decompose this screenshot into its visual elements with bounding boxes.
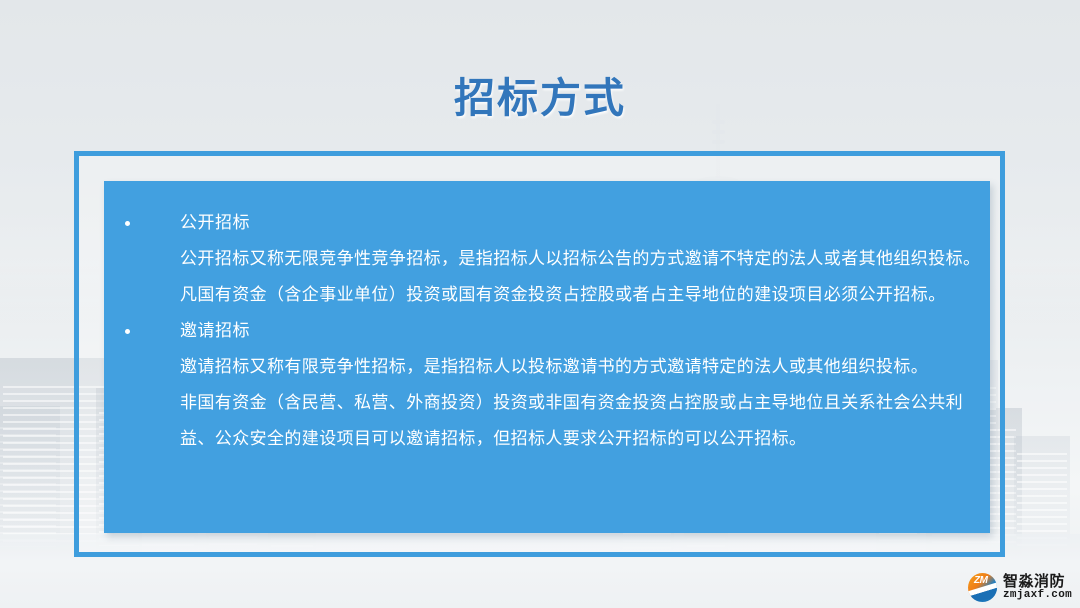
bullet-heading: 公开招标 <box>124 205 976 241</box>
bullet-block: 公开招标 公开招标又称无限竞争性竞争招标，是指招标人以招标公告的方式邀请不特定的… <box>124 205 976 313</box>
bullet-heading-text: 公开招标 <box>180 213 250 232</box>
zm-logo-icon: ZM <box>968 573 997 602</box>
bullet-heading-text: 邀请招标 <box>180 321 250 340</box>
content-panel: 公开招标 公开招标又称无限竞争性竞争招标，是指招标人以招标公告的方式邀请不特定的… <box>104 181 990 533</box>
bullet-body-line: 公开招标又称无限竞争性竞争招标，是指招标人以招标公告的方式邀请不特定的法人或者其… <box>124 241 976 277</box>
slide-title: 招标方式 <box>0 64 1080 124</box>
watermark-company-name: 智淼消防 <box>1003 574 1072 590</box>
bullet-body-line: 凡国有资金（含企事业单位）投资或国有资金投资占控股或者占主导地位的建设项目必须公… <box>124 277 976 313</box>
presentation-slide: 招标方式 公开招标 公开招标又称无限竞争性竞争招标，是指招标人以招标公告的方式邀… <box>0 0 1080 608</box>
bullet-heading: 邀请招标 <box>124 313 976 349</box>
bullet-list: 公开招标 公开招标又称无限竞争性竞争招标，是指招标人以招标公告的方式邀请不特定的… <box>124 205 976 457</box>
bullet-block: 邀请招标 邀请招标又称有限竞争性招标，是指招标人以投标邀请书的方式邀请特定的法人… <box>124 313 976 457</box>
bullet-body-line: 益、公众安全的建设项目可以邀请招标，但招标人要求公开招标的可以公开招标。 <box>124 421 976 457</box>
bullet-body-line: 邀请招标又称有限竞争性招标，是指招标人以投标邀请书的方式邀请特定的法人或其他组织… <box>124 349 976 385</box>
bullet-dot-icon <box>125 329 130 334</box>
bullet-dot-icon <box>125 221 130 226</box>
watermark-website: zmjaxf.com <box>1003 590 1072 602</box>
watermark-logo: ZM 智淼消防 zmjaxf.com <box>968 573 1072 602</box>
watermark-text: 智淼消防 zmjaxf.com <box>1003 574 1072 601</box>
bullet-body-line: 非国有资金（含民营、私营、外商投资）投资或非国有资金投资占控股或占主导地位且关系… <box>124 385 976 421</box>
